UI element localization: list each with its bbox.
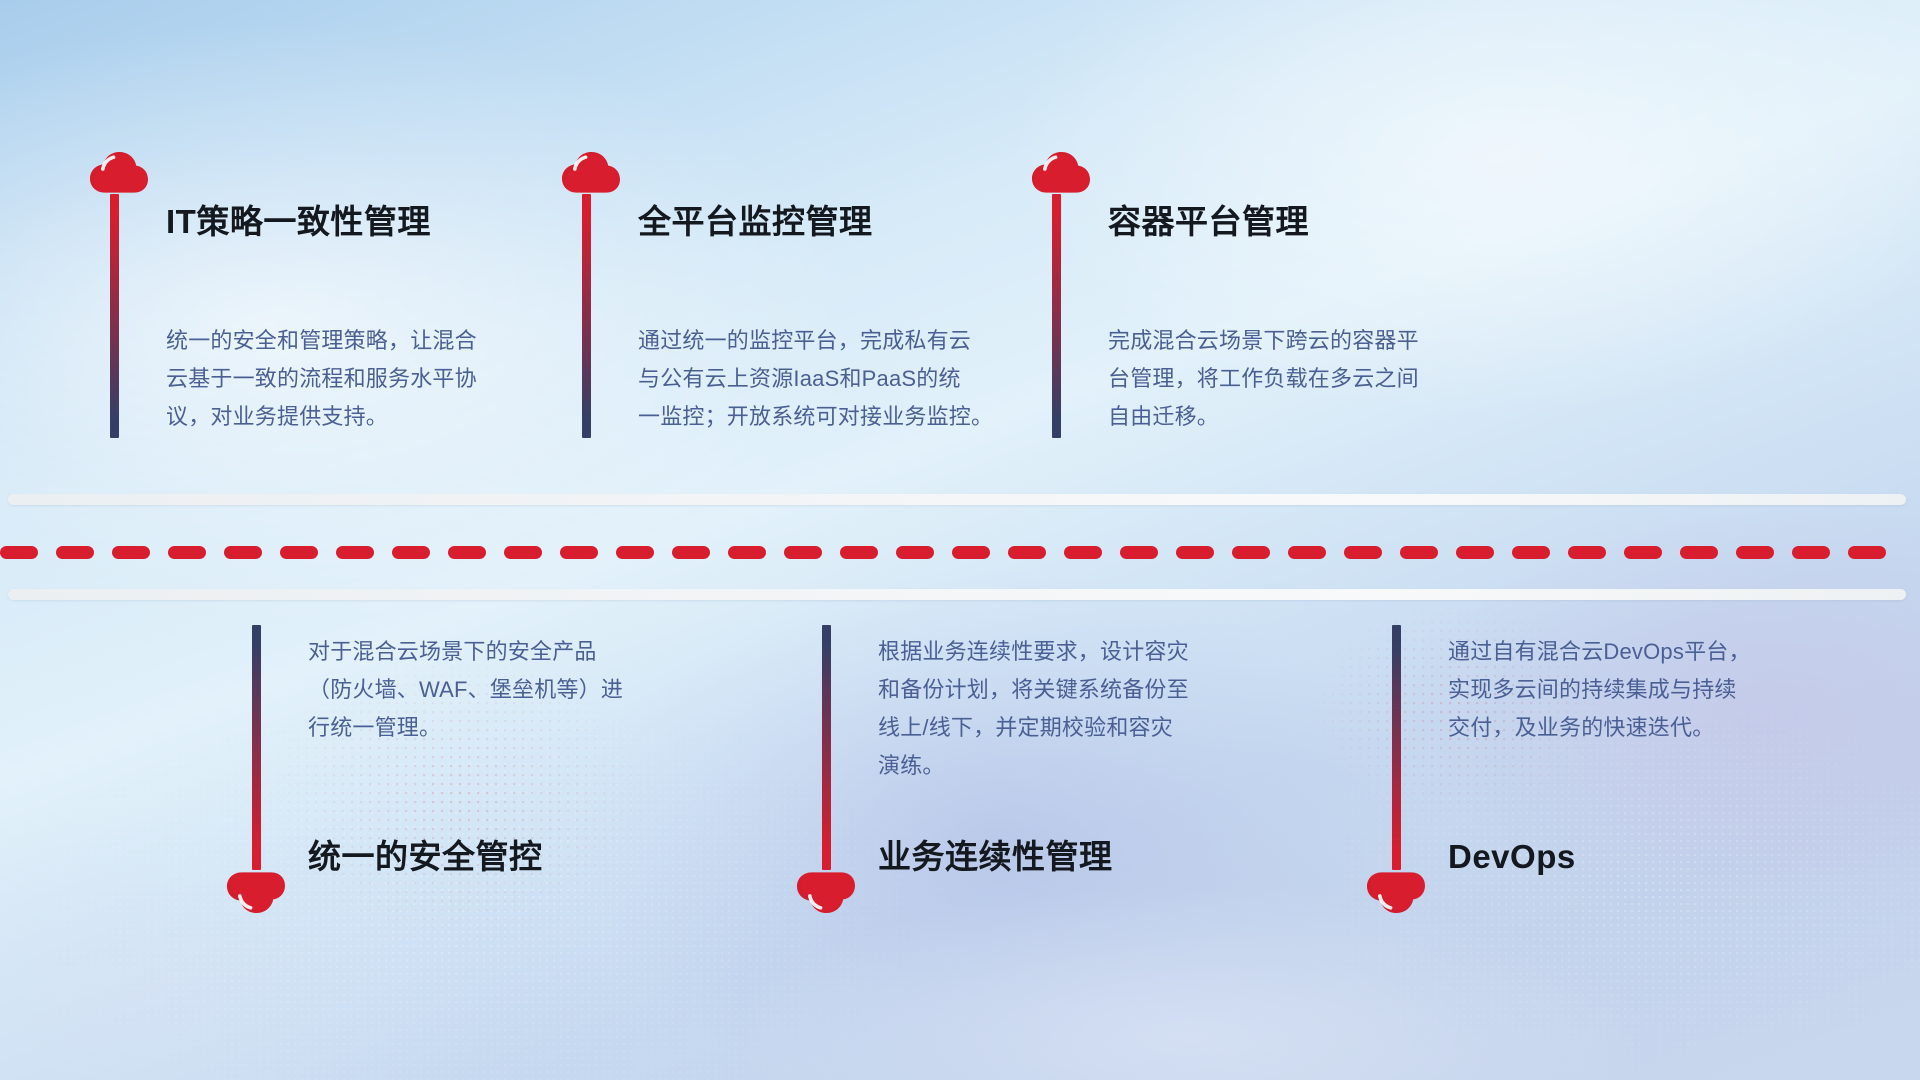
- divider-dash: [560, 546, 598, 559]
- description-line: 行统一管理。: [308, 709, 708, 747]
- cloud-marker-icon: [88, 150, 150, 200]
- description-line: 演练。: [878, 747, 1278, 785]
- divider-dash: [1288, 546, 1326, 559]
- background-glow-center: [0, 0, 1920, 1080]
- divider-dash: [504, 546, 542, 559]
- background-glow-left: [0, 0, 1920, 1080]
- bottom-connector-stem: [822, 625, 831, 870]
- divider-dash: [0, 546, 38, 559]
- description-line: 和备份计划，将关键系统备份至: [878, 671, 1278, 709]
- top-column-description: 完成混合云场景下跨云的容器平台管理，将工作负载在多云之间自由迁移。: [1108, 322, 1508, 436]
- cloud-marker-icon: [795, 865, 857, 915]
- cloud-marker-icon: [225, 865, 287, 915]
- description-line: 线上/线下，并定期校验和容灾: [878, 709, 1278, 747]
- divider-dash: [112, 546, 150, 559]
- divider-dash: [784, 546, 822, 559]
- divider-dash: [1120, 546, 1158, 559]
- top-column-description: 通过统一的监控平台，完成私有云与公有云上资源IaaS和PaaS的统一监控；开放系…: [638, 322, 1038, 436]
- background-glow-top-right: [0, 0, 1920, 1080]
- description-line: 议，对业务提供支持。: [166, 398, 566, 436]
- description-line: （防火墙、WAF、堡垒机等）进: [308, 671, 708, 709]
- divider-dash: [168, 546, 206, 559]
- divider-dash: [728, 546, 766, 559]
- description-line: 统一的安全和管理策略，让混合: [166, 322, 566, 360]
- divider-dash: [1512, 546, 1550, 559]
- infographic-canvas: IT策略一致性管理统一的安全和管理策略，让混合云基于一致的流程和服务水平协议，对…: [0, 0, 1920, 1080]
- description-line: 通过自有混合云DevOps平台，: [1448, 633, 1848, 671]
- description-line: 对于混合云场景下的安全产品: [308, 633, 708, 671]
- divider-dash: [336, 546, 374, 559]
- top-connector-stem: [110, 194, 119, 438]
- divider-dash: [280, 546, 318, 559]
- background-glow-right: [0, 0, 1920, 1080]
- divider-dash: [896, 546, 934, 559]
- bottom-column-description: 对于混合云场景下的安全产品（防火墙、WAF、堡垒机等）进行统一管理。: [308, 633, 708, 747]
- divider-dash: [448, 546, 486, 559]
- divider-dash: [1232, 546, 1270, 559]
- divider-dash: [1568, 546, 1606, 559]
- description-line: 与公有云上资源IaaS和PaaS的统: [638, 360, 1038, 398]
- cloud-marker-icon: [1030, 150, 1092, 200]
- description-line: 完成混合云场景下跨云的容器平: [1108, 322, 1508, 360]
- divider-rail-bottom: [8, 589, 1906, 600]
- top-column-title: IT策略一致性管理: [166, 202, 431, 242]
- bottom-column-description: 根据业务连续性要求，设计容灾和备份计划，将关键系统备份至线上/线下，并定期校验和…: [878, 633, 1278, 785]
- divider-rail-top: [8, 494, 1906, 505]
- divider-dash: [616, 546, 654, 559]
- divider-dash: [1456, 546, 1494, 559]
- top-connector-stem: [582, 194, 591, 438]
- background-dot-texture: [0, 0, 1920, 1080]
- divider-dash: [1064, 546, 1102, 559]
- divider-dash: [392, 546, 430, 559]
- divider-dash: [1400, 546, 1438, 559]
- divider-dashed-line: [0, 546, 1920, 559]
- cloud-marker-icon: [1365, 865, 1427, 915]
- bottom-column-title: 业务连续性管理: [878, 837, 1113, 877]
- background-glow-bottom: [0, 0, 1920, 1080]
- divider-dash: [1680, 546, 1718, 559]
- description-line: 通过统一的监控平台，完成私有云: [638, 322, 1038, 360]
- description-line: 自由迁移。: [1108, 398, 1508, 436]
- bottom-column-title: 统一的安全管控: [308, 837, 543, 877]
- bottom-connector-stem: [252, 625, 261, 870]
- bottom-column-description: 通过自有混合云DevOps平台，实现多云间的持续集成与持续交付，及业务的快速迭代…: [1448, 633, 1848, 747]
- top-connector-stem: [1052, 194, 1061, 438]
- divider-dash: [1848, 546, 1886, 559]
- top-column-description: 统一的安全和管理策略，让混合云基于一致的流程和服务水平协议，对业务提供支持。: [166, 322, 566, 436]
- description-line: 台管理，将工作负载在多云之间: [1108, 360, 1508, 398]
- top-column-title: 容器平台管理: [1108, 202, 1309, 242]
- description-line: 一监控；开放系统可对接业务监控。: [638, 398, 1038, 436]
- background-red-dot-texture: [0, 0, 1920, 1080]
- divider-dash: [952, 546, 990, 559]
- cloud-marker-icon: [560, 150, 622, 200]
- description-line: 实现多云间的持续集成与持续: [1448, 671, 1848, 709]
- divider-dash: [1736, 546, 1774, 559]
- background-glow-bottom-left: [0, 0, 1920, 1080]
- divider-dash: [224, 546, 262, 559]
- divider-dash: [1792, 546, 1830, 559]
- divider-dash: [840, 546, 878, 559]
- divider-dash: [1176, 546, 1214, 559]
- divider-dash: [1008, 546, 1046, 559]
- bottom-column-title: DevOps: [1448, 837, 1576, 877]
- background-gradient: [0, 0, 1920, 1080]
- divider-dash: [1624, 546, 1662, 559]
- divider-dash: [1344, 546, 1382, 559]
- description-line: 云基于一致的流程和服务水平协: [166, 360, 566, 398]
- top-column-title: 全平台监控管理: [638, 202, 873, 242]
- description-line: 交付，及业务的快速迭代。: [1448, 709, 1848, 747]
- divider-dash: [672, 546, 710, 559]
- divider-dash: [56, 546, 94, 559]
- description-line: 根据业务连续性要求，设计容灾: [878, 633, 1278, 671]
- bottom-connector-stem: [1392, 625, 1401, 870]
